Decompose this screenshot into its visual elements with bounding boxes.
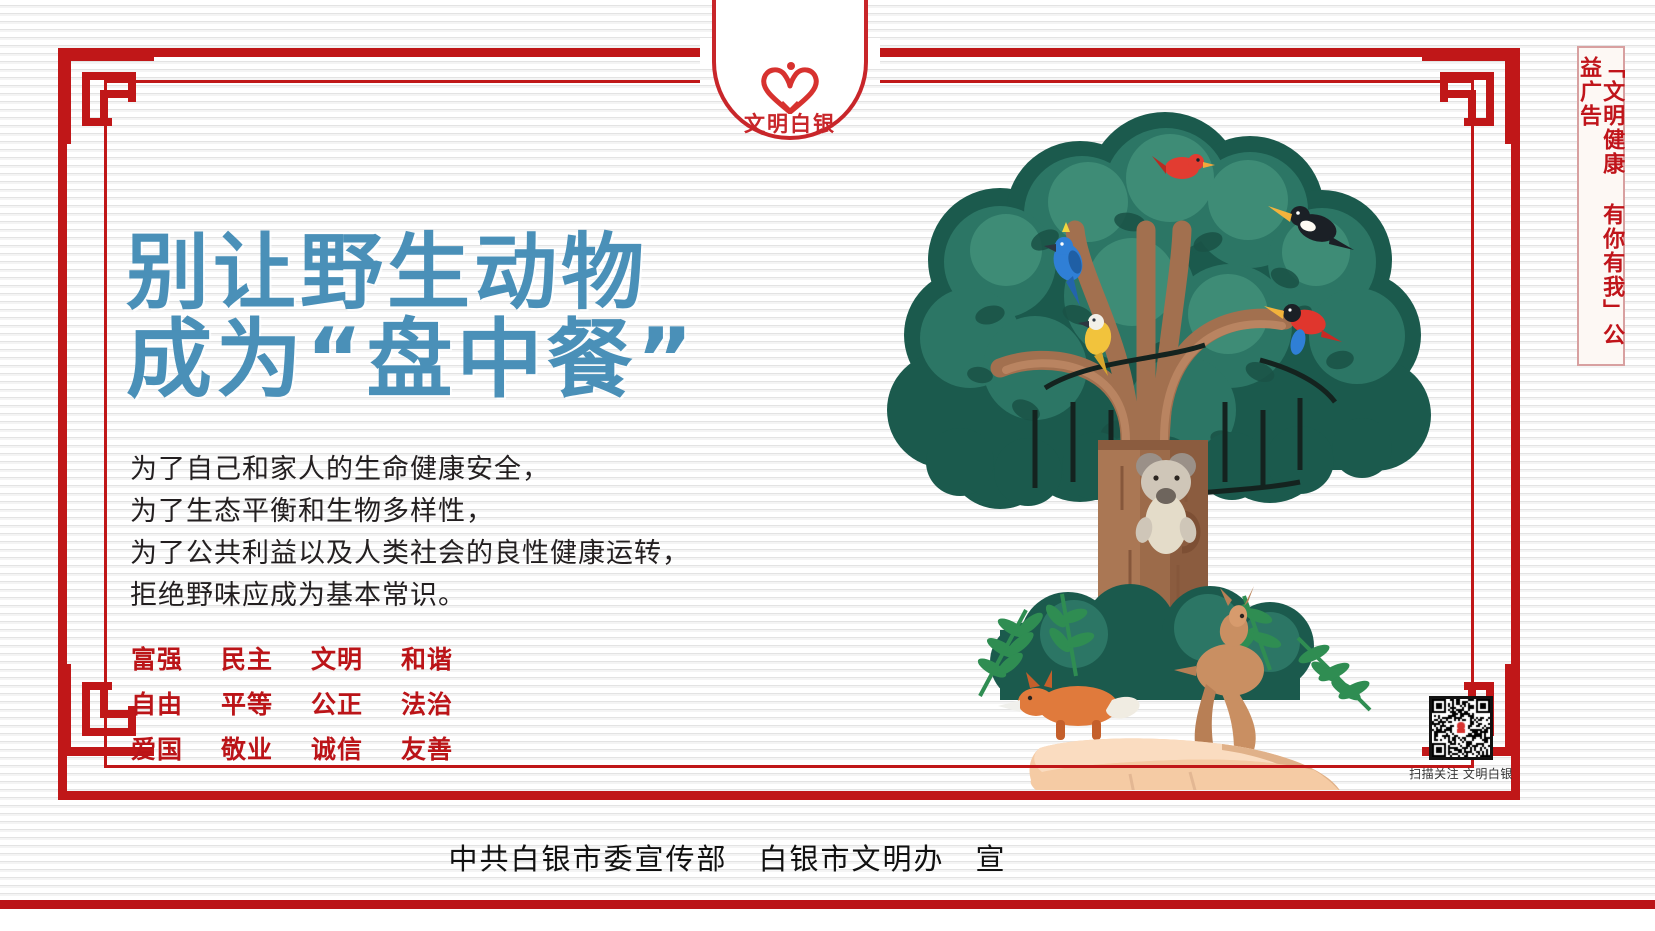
bottom-red-rule [0, 900, 1655, 909]
core-values-row: 爱国 敬业 诚信 友善 [131, 730, 491, 766]
core-value: 公正 [311, 685, 373, 721]
qr-caption: 扫描关注 文明白银 [1371, 765, 1551, 782]
body-copy: 为了自己和家人的生命健康安全， 为了生态平衡和生物多样性， 为了公共利益以及人类… [130, 448, 750, 616]
core-value: 平等 [221, 685, 283, 721]
greek-key-corner-ornament-top-right [1422, 52, 1514, 144]
body-copy-line: 为了公共利益以及人类社会的良性健康运转， [130, 532, 750, 574]
core-value: 文明 [311, 640, 373, 676]
body-copy-line: 拒绝野味应成为基本常识。 [130, 574, 750, 616]
core-value: 民主 [221, 640, 283, 676]
core-value: 自由 [131, 685, 193, 721]
vertical-public-service-ad-strip: 「文明健康 有你有我」公益广告 [1577, 46, 1625, 366]
core-values-row: 富强 民主 文明 和谐 [131, 640, 491, 676]
headline-line-2: 成为“盘中餐” [126, 317, 886, 405]
body-copy-line: 为了生态平衡和生物多样性， [130, 490, 750, 532]
logo-text: 文明白银 [712, 108, 868, 138]
footer-credit: 中共白银市委宣传部 白银市文明办 宣 [0, 836, 1655, 878]
core-value: 诚信 [311, 730, 373, 766]
bottom-white-strip [0, 909, 1655, 931]
body-copy-line: 为了自己和家人的生命健康安全， [130, 448, 750, 490]
core-value: 友善 [401, 730, 463, 766]
core-value: 富强 [131, 640, 193, 676]
qr-code-icon[interactable] [1429, 696, 1493, 760]
core-values-row: 自由 平等 公正 法治 [131, 685, 491, 721]
core-value: 法治 [401, 685, 463, 721]
qr-block: 扫描关注 文明白银 [1371, 696, 1551, 782]
vertical-ad-text: 「文明健康 有你有我」公益广告 [1578, 56, 1624, 364]
core-value: 敬业 [221, 730, 283, 766]
footer-credit-text: 中共白银市委宣传部 白银市文明办 宣 [448, 844, 1006, 876]
core-value: 和谐 [401, 640, 463, 676]
greek-key-corner-ornament-top-left [62, 52, 154, 144]
headline-line-1: 别让野生动物 [126, 232, 886, 313]
poster-canvas: 文明白银 「文明健康 有你有我」公益广告 别让野生动物 成为“盘中餐” 为了自己… [0, 0, 1655, 931]
headline: 别让野生动物 成为“盘中餐” [126, 232, 886, 405]
brand-logo: 文明白银 [712, 30, 868, 138]
heart-icon [758, 62, 822, 114]
socialist-core-values-grid: 富强 民主 文明 和谐 自由 平等 公正 法治 爱国 敬业 诚信 友善 [131, 640, 491, 775]
core-value: 爱国 [131, 730, 193, 766]
